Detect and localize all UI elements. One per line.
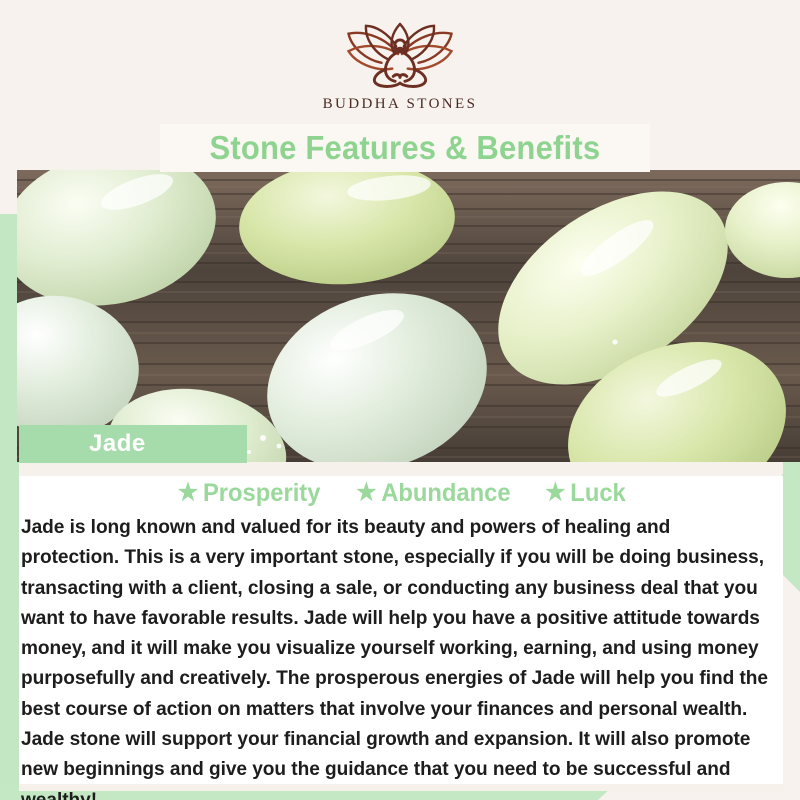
page-title: Stone Features & Benefits <box>210 129 601 167</box>
star-icon: ★ <box>545 481 565 505</box>
benefit-item-luck: ★ Luck <box>545 479 626 508</box>
description-panel-footer <box>19 784 783 791</box>
benefit-item-prosperity: ★ Prosperity <box>178 479 321 508</box>
lotus-meditation-figure-icon <box>325 22 475 90</box>
brand-logo: BUDDHA STONES <box>0 22 800 113</box>
star-icon: ★ <box>356 481 376 505</box>
benefit-label: Abundance <box>382 479 511 508</box>
section-separator <box>19 462 783 474</box>
stone-photo <box>17 170 800 462</box>
benefit-label: Luck <box>570 479 625 508</box>
star-icon: ★ <box>178 481 198 505</box>
page-title-band: Stone Features & Benefits <box>160 124 650 172</box>
description-text: Jade is long known and valued for its be… <box>21 512 770 800</box>
stone-name: Jade <box>89 430 146 458</box>
benefit-item-abundance: ★ Abundance <box>356 479 511 508</box>
brand-name: BUDDHA STONES <box>323 96 478 113</box>
benefits-row: ★ Prosperity ★ Abundance ★ Luck <box>19 476 783 510</box>
infographic-page: BUDDHA STONES Stone Features & Benefits <box>0 0 800 800</box>
description-panel: Jade is long known and valued for its be… <box>19 510 783 784</box>
stone-name-banner: Jade <box>19 425 247 463</box>
benefit-label: Prosperity <box>203 479 320 508</box>
